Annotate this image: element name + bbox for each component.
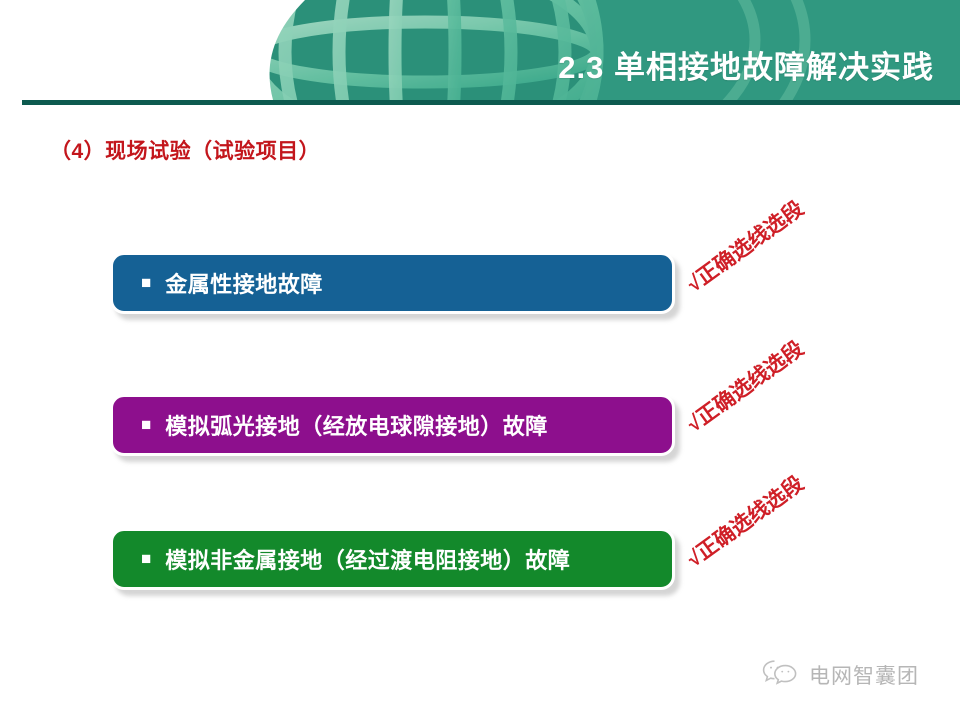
wechat-logo-icon (760, 658, 800, 691)
slide-canvas: 2.3 单相接地故障解决实践 （4）现场试验（试验项目） ■ 金属性接地故障 ■… (0, 0, 960, 720)
item-label: 模拟非金属接地（经过渡电阻接地）故障 (165, 543, 570, 575)
item-box-nonmetallic-fault[interactable]: ■ 模拟非金属接地（经过渡电阻接地）故障 (110, 528, 675, 590)
item-label: 金属性接地故障 (165, 267, 323, 299)
square-bullet-icon: ■ (141, 416, 151, 433)
header-divider-rule (22, 100, 960, 105)
square-bullet-icon: ■ (141, 274, 151, 291)
square-bullet-icon: ■ (141, 550, 151, 567)
item-box-arc-fault[interactable]: ■ 模拟弧光接地（经放电球隙接地）故障 (110, 394, 675, 456)
annotation-correct-line-selection: √正确选线选段 (680, 468, 809, 573)
watermark-text: 电网智囊团 (809, 660, 919, 690)
item-label: 模拟弧光接地（经放电球隙接地）故障 (165, 409, 548, 441)
annotation-correct-line-selection: √正确选线选段 (680, 333, 809, 438)
item-box-metallic-fault[interactable]: ■ 金属性接地故障 (110, 252, 675, 314)
header-globe-left-fade (155, 0, 515, 100)
annotation-correct-line-selection: √正确选线选段 (680, 193, 809, 298)
section-subtitle: （4）现场试验（试验项目） (50, 135, 320, 165)
page-title: 2.3 单相接地故障解决实践 (558, 42, 934, 87)
white-cutout-shape (155, 0, 515, 100)
watermark: 电网智囊团 (760, 658, 919, 691)
